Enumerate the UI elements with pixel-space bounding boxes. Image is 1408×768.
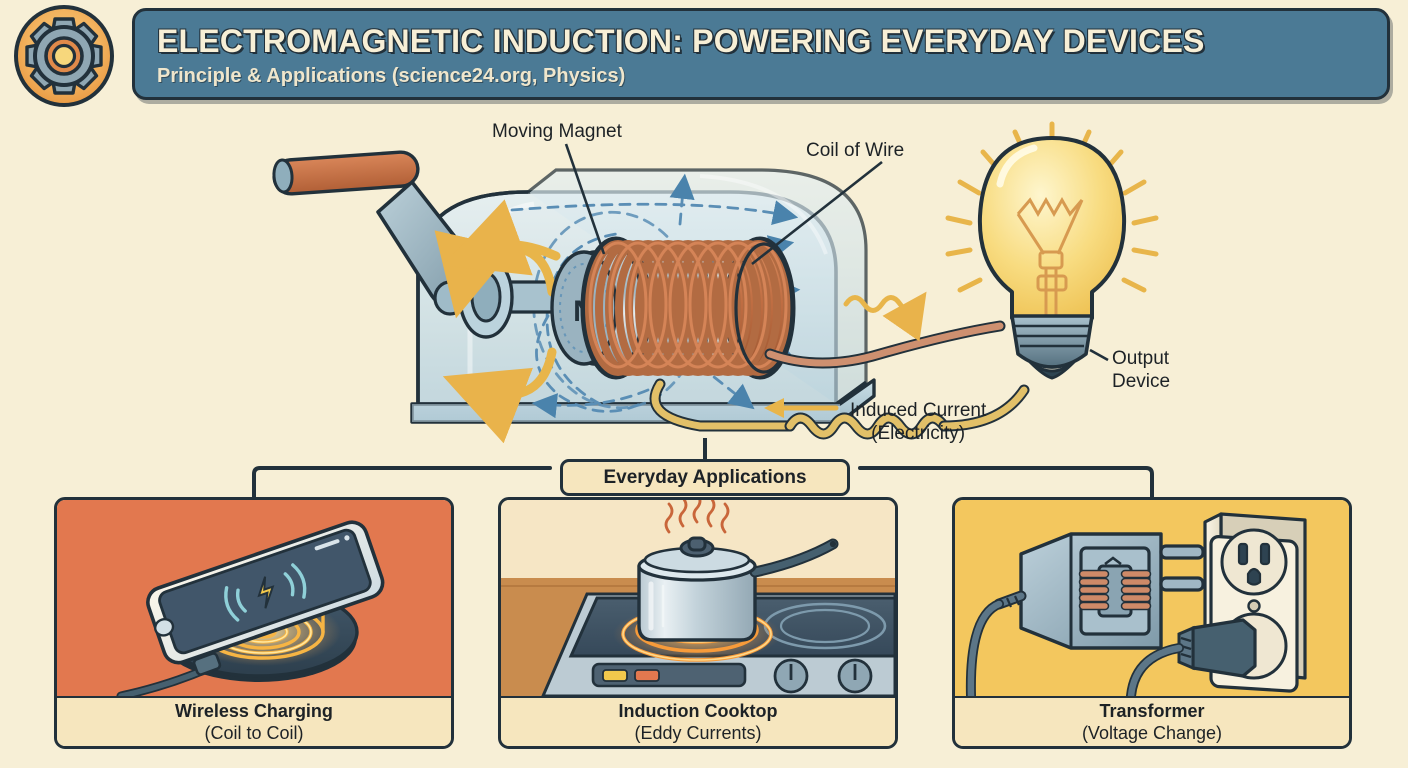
- crank-handle[interactable]: [273, 151, 478, 314]
- header-bar: ELECTROMAGNETIC INDUCTION: POWERING EVER…: [132, 8, 1390, 100]
- transformer-illustration: [955, 500, 1349, 696]
- page-subtitle: Principle & Applications (science24.org,…: [157, 63, 1387, 89]
- application-card-wireless-charging[interactable]: Wireless Charging (Coil to Coil): [54, 497, 454, 749]
- label-coil-of-wire: Coil of Wire: [806, 139, 904, 162]
- infographic-root: ELECTROMAGNETIC INDUCTION: POWERING EVER…: [0, 0, 1408, 768]
- coil-of-wire: [580, 242, 792, 374]
- card-title: Induction Cooktop: [619, 700, 778, 722]
- page-title: ELECTROMAGNETIC INDUCTION: POWERING EVER…: [157, 19, 1387, 63]
- label-output-device-line2: Device: [1112, 370, 1222, 393]
- applications-section-title: Everyday Applications: [560, 459, 850, 496]
- light-bulb: [948, 124, 1156, 378]
- card-subtitle: (Voltage Change): [1082, 722, 1222, 744]
- bulb-base: [1012, 316, 1092, 378]
- label-output-device-line1: Output: [1112, 347, 1222, 370]
- card-subtitle: (Eddy Currents): [634, 722, 761, 744]
- card-title: Transformer: [1099, 700, 1204, 722]
- application-card-transformer[interactable]: Transformer (Voltage Change): [952, 497, 1352, 749]
- card-title: Wireless Charging: [175, 700, 333, 722]
- wireless-charging-caption: Wireless Charging (Coil to Coil): [57, 696, 451, 746]
- label-moving-magnet: Moving Magnet: [492, 120, 622, 143]
- induction-cooktop-illustration: [501, 500, 895, 696]
- gear-icon: [12, 4, 116, 108]
- transformer-caption: Transformer (Voltage Change): [955, 696, 1349, 746]
- application-card-induction-cooktop[interactable]: Induction Cooktop (Eddy Currents): [498, 497, 898, 749]
- card-subtitle: (Coil to Coil): [204, 722, 303, 744]
- label-output-device: Output Device: [1112, 347, 1222, 393]
- label-induced-current-line1: Induced Current: [850, 399, 986, 422]
- wireless-charging-illustration: [57, 500, 451, 696]
- induction-cooktop-caption: Induction Cooktop (Eddy Currents): [501, 696, 895, 746]
